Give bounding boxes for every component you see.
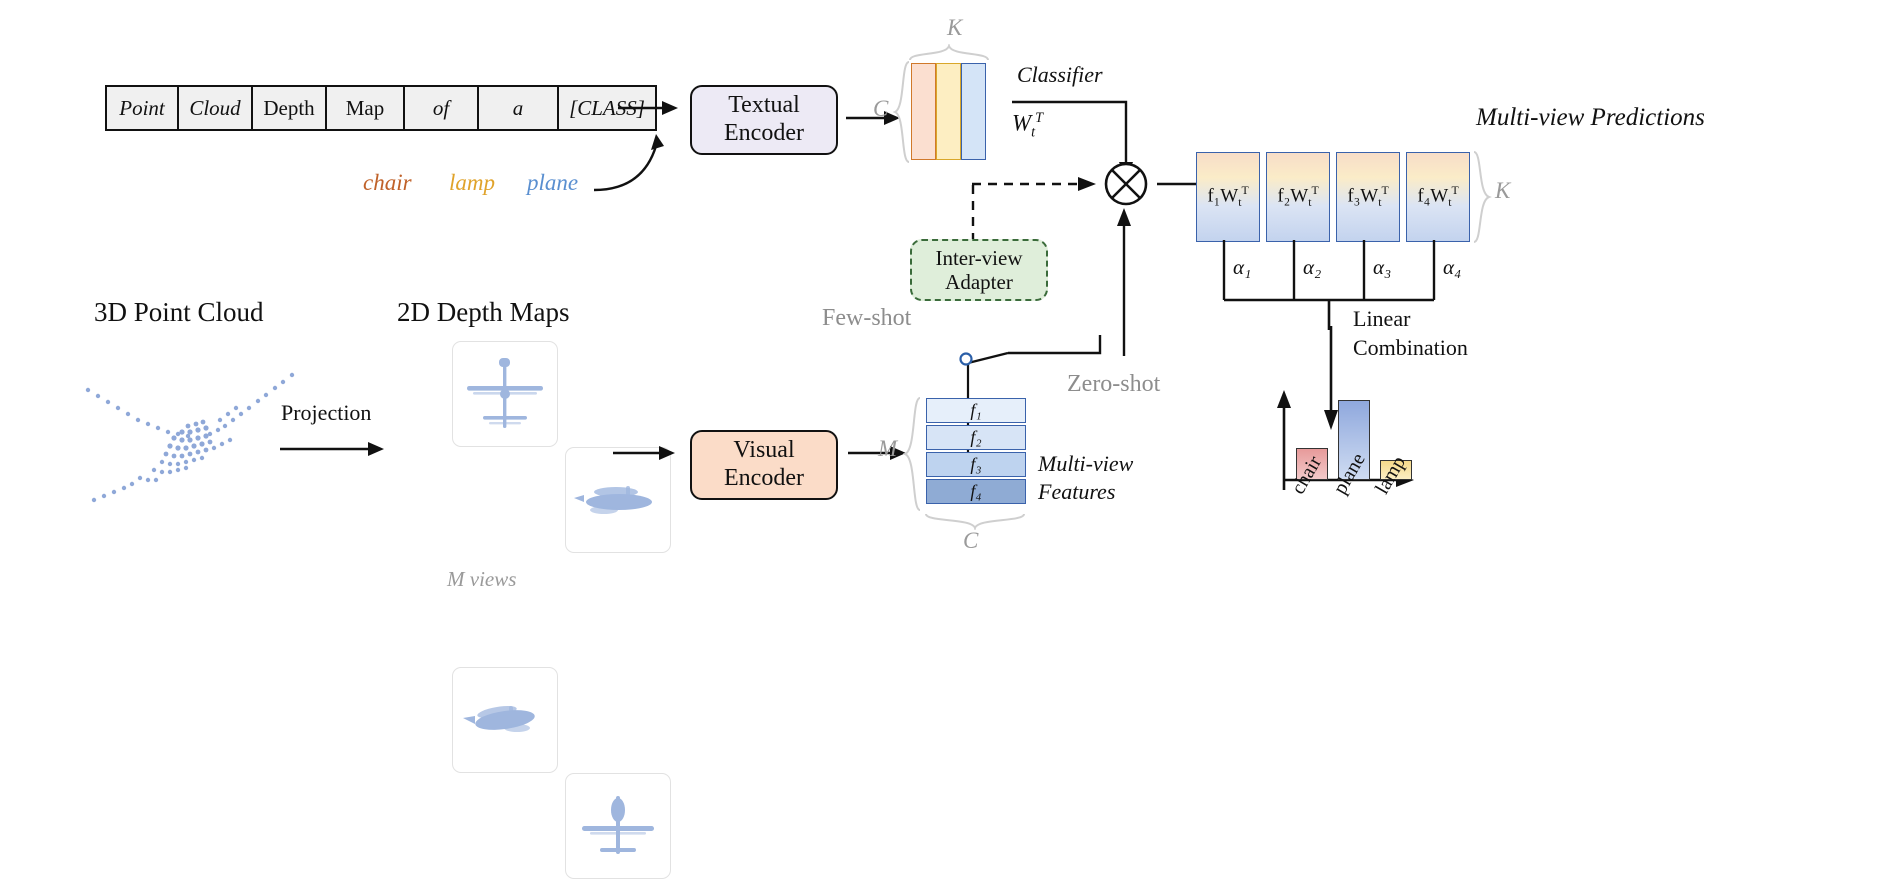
classifier-top-brace xyxy=(908,44,990,62)
multi-view-features-caption: Multi-view Features xyxy=(1038,450,1133,505)
arrow-depthmaps-to-visual-encoder xyxy=(613,441,677,465)
point-cloud-title: 3D Point Cloud xyxy=(94,297,264,328)
prompt-token-0: Point xyxy=(107,87,179,129)
features-caption-line2: Features xyxy=(1038,479,1115,504)
depth-map-view-1 xyxy=(452,341,558,447)
prediction-box-1-label: f₁W xyxy=(1207,185,1238,206)
depth-map-plane-front xyxy=(566,774,670,878)
multiply-operator xyxy=(1102,160,1150,208)
classifier-column-plane xyxy=(961,63,986,160)
features-left-brace xyxy=(903,396,923,512)
prompt-token-1: Cloud xyxy=(179,87,253,129)
projection-label: Projection xyxy=(281,400,371,426)
class-to-slot-arrow xyxy=(590,128,680,198)
prediction-box-4: f₄WtT xyxy=(1406,152,1470,242)
textual-encoder-line1: Textual xyxy=(728,92,800,118)
features-caption-line1: Multi-view xyxy=(1038,451,1133,476)
linear-combination-line1: Linear xyxy=(1353,306,1410,331)
arrow-prompt-to-textual-encoder xyxy=(618,96,680,120)
prompt-token-2: Depth xyxy=(253,87,327,129)
textual-encoder-line2: Encoder xyxy=(724,120,804,146)
adapter-line1: Inter-view xyxy=(935,246,1022,270)
prediction-box-3: f₃WtT xyxy=(1336,152,1400,242)
prediction-box-4-label: f₄W xyxy=(1417,185,1448,206)
feature-row-1: f₁ xyxy=(926,398,1026,423)
prediction-box-1: f₁WtT xyxy=(1196,152,1260,242)
zero-shot-arrow-into-multiply xyxy=(1100,206,1154,358)
feature-row-4: f₄ xyxy=(926,479,1026,504)
class-word-chair: chair xyxy=(363,170,412,196)
alpha-label-2: α₂ xyxy=(1303,255,1321,280)
linear-combination-line2: Combination xyxy=(1353,335,1468,360)
predictions-right-brace xyxy=(1472,150,1492,244)
prompt-token-3: Map xyxy=(327,87,405,129)
depth-maps-title: 2D Depth Maps xyxy=(397,297,569,328)
feature-row-2: f₂ xyxy=(926,425,1026,450)
classifier-left-brace xyxy=(893,60,911,164)
classifier-column-chair xyxy=(911,63,936,160)
feature-row-3: f₃ xyxy=(926,452,1026,477)
visual-encoder-line2: Encoder xyxy=(724,465,804,491)
depth-map-plane-top xyxy=(453,342,557,446)
linear-combination-label: Linear Combination xyxy=(1353,305,1468,362)
inter-view-adapter-box: Inter-view Adapter xyxy=(910,239,1048,301)
multi-view-predictions-title: Multi-view Predictions xyxy=(1476,104,1705,132)
class-word-lamp: lamp xyxy=(449,170,495,196)
class-word-plane: plane xyxy=(527,170,578,196)
visual-encoder-line1: Visual xyxy=(733,437,794,463)
prediction-box-3-label: f₃W xyxy=(1347,185,1378,206)
prompt-token-5: a xyxy=(479,87,559,129)
prompt-template: Point Cloud Depth Map of a [CLASS] xyxy=(105,85,657,131)
classifier-matrix xyxy=(911,63,986,160)
depth-map-plane-angled xyxy=(453,668,557,772)
point-cloud-scatter xyxy=(70,360,310,510)
classifier-label: Classifier xyxy=(1017,62,1103,88)
features-dim-C: C xyxy=(963,528,978,554)
features-dim-M: M xyxy=(878,436,897,462)
views-caption: M views xyxy=(447,567,516,592)
multi-view-feature-stack: f₁ f₂ f₃ f₄ xyxy=(926,398,1026,506)
alpha-label-1: α₁ xyxy=(1233,255,1251,280)
classifier-dim-K: K xyxy=(947,15,962,41)
predictions-dim-K: K xyxy=(1495,178,1510,204)
prompt-token-4: of xyxy=(405,87,479,129)
few-shot-label: Few-shot xyxy=(822,305,911,332)
classifier-dim-C: C xyxy=(873,96,888,122)
textual-encoder-box: Textual Encoder xyxy=(690,85,838,155)
depth-map-view-3 xyxy=(452,667,558,773)
arrow-projection xyxy=(280,437,388,461)
prediction-box-2-label: f₂W xyxy=(1277,185,1308,206)
adapter-to-multiply-dashed-line xyxy=(966,184,980,244)
depth-map-view-4 xyxy=(565,773,671,879)
visual-encoder-box: Visual Encoder xyxy=(690,430,838,500)
prediction-box-2: f₂WtT xyxy=(1266,152,1330,242)
alpha-label-3: α₃ xyxy=(1373,255,1391,280)
adapter-line2: Adapter xyxy=(945,270,1013,294)
alpha-label-4: α₄ xyxy=(1443,255,1461,280)
few-shot-dashed-arrow xyxy=(972,172,1100,196)
classifier-column-lamp xyxy=(936,63,961,160)
